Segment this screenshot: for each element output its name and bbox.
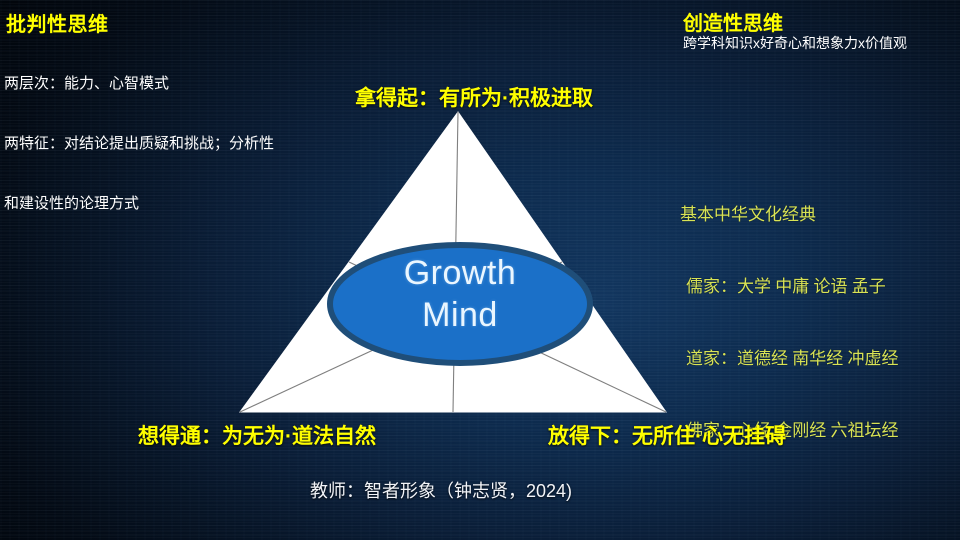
critical-thinking-heading: 批判性思维 — [6, 8, 109, 37]
critical-thinking-line-2: 两特征：对结论提出质疑和挑战；分析性 — [4, 134, 274, 154]
ellipse-label: Growth Mind — [330, 252, 590, 336]
critical-thinking-line-3: 和建设性的论理方式 — [4, 194, 274, 214]
creative-thinking-subtitle: 跨学科知识x好奇心和想象力x价值观 — [683, 33, 907, 53]
classics-title: 基本中华文化经典 — [680, 203, 899, 227]
footer-caption: 教师：智者形象（钟志贤，2024) — [310, 477, 572, 503]
critical-thinking-body: 两层次：能力、心智模式 两特征：对结论提出质疑和挑战；分析性 和建设性的论理方式 — [4, 34, 274, 254]
ellipse-label-line2: Mind — [330, 294, 590, 336]
classics-row-daoist: 道家：道德经 南华经 冲虚经 — [680, 347, 899, 371]
vertex-label-bottom-right: 放得下：无所住·心无挂碍 — [548, 420, 786, 450]
vertex-label-top: 拿得起：有所为·积极进取 — [355, 82, 593, 112]
classics-row-confucian: 儒家：大学 中庸 论语 孟子 — [680, 275, 899, 299]
slide-canvas: Growth Mind 批判性思维 两层次：能力、心智模式 两特征：对结论提出质… — [0, 0, 960, 540]
vertex-label-bottom-left: 想得通：为无为·道法自然 — [138, 420, 376, 450]
ellipse-label-line1: Growth — [330, 252, 590, 294]
creative-thinking-heading: 创造性思维 — [683, 7, 783, 36]
critical-thinking-line-1: 两层次：能力、心智模式 — [4, 74, 274, 94]
